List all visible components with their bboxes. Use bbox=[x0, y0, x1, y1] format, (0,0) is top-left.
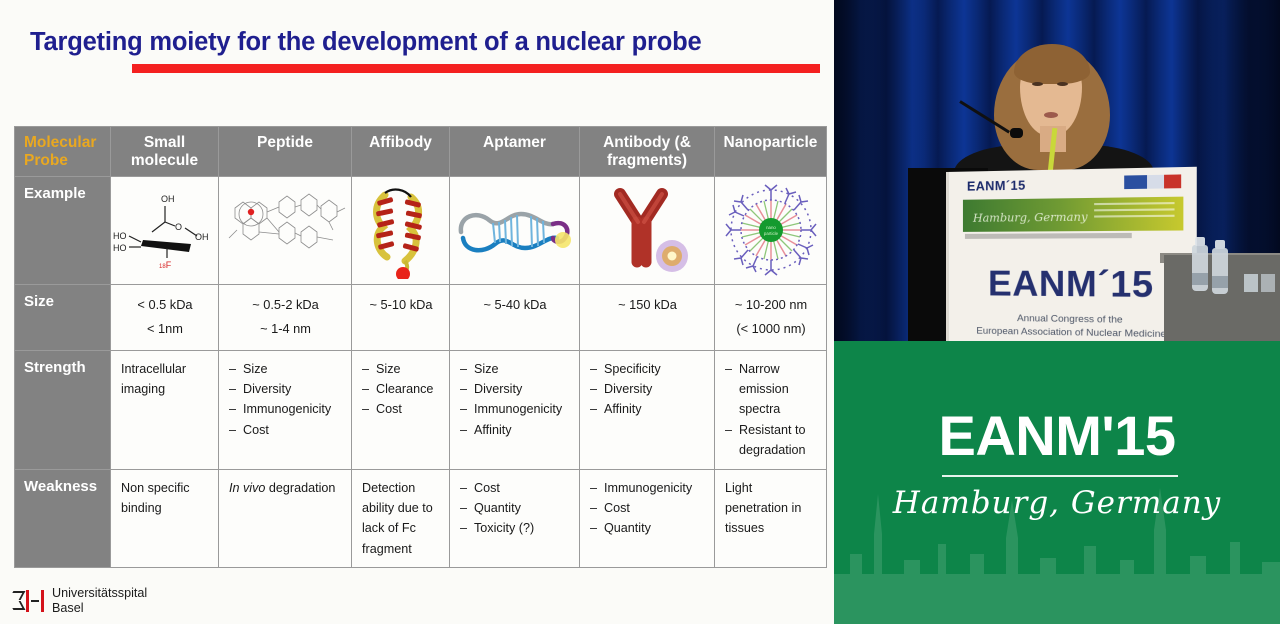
table-row-weakness: Weakness Non specific binding In vivo de… bbox=[15, 469, 827, 568]
table-corner-header: Molecular Probe bbox=[15, 127, 111, 177]
speaker-video-pane[interactable]: EANM´15 Hamburg, Germany EANM´15 Annual … bbox=[834, 0, 1280, 341]
list-item: Immunogenicity bbox=[229, 399, 342, 419]
column-header-antibody: Antibody (& fragments) bbox=[580, 127, 715, 177]
aptamer-dna-helix-icon bbox=[450, 177, 579, 283]
unibas-logo-line2: Basel bbox=[52, 601, 147, 616]
peptide-chemical-structure-icon bbox=[219, 177, 351, 283]
podium-sign-flag-icon bbox=[1124, 174, 1181, 189]
row-header-weakness: Weakness bbox=[15, 469, 111, 568]
unibas-logo-text: Universitätsspital Basel bbox=[52, 586, 147, 617]
bullet-list: Immunogenicity Cost Quantity bbox=[590, 478, 705, 539]
svg-text:HO: HO bbox=[113, 231, 127, 241]
list-item: Size bbox=[460, 359, 570, 379]
table-header-row: Molecular Probe Small molecule Peptide A… bbox=[15, 127, 827, 177]
universitaetsspital-basel-logo: Universitätsspital Basel bbox=[10, 586, 147, 617]
size-cell-small-molecule: < 0.5 kDa < 1nm bbox=[111, 285, 219, 351]
column-header-nanoparticle: Nanoparticle bbox=[715, 127, 827, 177]
speaker-eye-right bbox=[1057, 82, 1068, 86]
brand-title: EANM'15 bbox=[834, 403, 1280, 468]
bullet-list: Narrow emission spectra Resistant to deg… bbox=[725, 359, 817, 461]
drinking-glass-icon bbox=[1261, 274, 1275, 292]
slide-title: Targeting moiety for the development of … bbox=[30, 28, 820, 57]
svg-text:nano: nano bbox=[766, 225, 776, 230]
example-cell-aptamer bbox=[450, 177, 580, 285]
list-item: Narrow emission spectra bbox=[725, 359, 817, 420]
weakness-cell-antibody: Immunogenicity Cost Quantity bbox=[580, 469, 715, 568]
example-cell-peptide bbox=[219, 177, 352, 285]
list-item: Immunogenicity bbox=[590, 478, 705, 498]
unibas-logo-line1: Universitätsspital bbox=[52, 586, 147, 601]
svg-text:HO: HO bbox=[113, 243, 127, 253]
size-line: ~ 1-4 nm bbox=[229, 317, 342, 341]
unibas-logo-mark-icon bbox=[10, 589, 46, 613]
svg-text:particle: particle bbox=[763, 231, 778, 236]
list-item: Size bbox=[362, 359, 440, 379]
list-item: Affinity bbox=[590, 399, 705, 419]
example-cell-nanoparticle: nano particle bbox=[715, 177, 827, 285]
list-item: Diversity bbox=[590, 379, 705, 399]
affibody-helix-ribbon-icon bbox=[352, 177, 449, 283]
size-cell-antibody: ~ 150 kDa bbox=[580, 285, 715, 351]
bullet-list: Size Clearance Cost bbox=[362, 359, 440, 420]
strength-cell-small-molecule: Intracellular imaging bbox=[111, 350, 219, 469]
weakness-text: degradation bbox=[265, 481, 335, 495]
size-line: (< 1000 nm) bbox=[725, 317, 817, 341]
weakness-cell-small-molecule: Non specific binding bbox=[111, 469, 219, 568]
svg-text:18F: 18F bbox=[159, 260, 172, 270]
brand-divider-rule bbox=[942, 475, 1178, 477]
strength-cell-antibody: Specificity Diversity Affinity bbox=[580, 350, 715, 469]
speaker-mouth bbox=[1044, 112, 1058, 118]
speaker-eye-left bbox=[1032, 82, 1043, 86]
list-item: Immunogenicity bbox=[460, 399, 570, 419]
list-item: Quantity bbox=[590, 518, 705, 538]
example-cell-small-molecule: OH O OH HO HO bbox=[111, 177, 219, 285]
column-header-peptide: Peptide bbox=[219, 127, 352, 177]
brand-subtitle: Hamburg, Germany bbox=[834, 485, 1280, 521]
strength-cell-peptide: Size Diversity Immunogenicity Cost bbox=[219, 350, 352, 469]
water-bottle-icon bbox=[1212, 248, 1228, 294]
screen: Targeting moiety for the development of … bbox=[0, 0, 1280, 624]
list-item: Clearance bbox=[362, 379, 440, 399]
bullet-list: Size Diversity Immunogenicity Cost bbox=[229, 359, 342, 441]
size-cell-peptide: ~ 0.5-2 kDa ~ 1-4 nm bbox=[219, 285, 352, 351]
list-item: Affinity bbox=[460, 420, 570, 440]
size-line: < 0.5 kDa bbox=[121, 293, 209, 317]
drinking-glass-icon bbox=[1244, 274, 1258, 292]
size-line: ~ 0.5-2 kDa bbox=[229, 293, 342, 317]
size-cell-affibody: ~ 5-10 kDa bbox=[352, 285, 450, 351]
example-cell-antibody bbox=[580, 177, 715, 285]
strength-cell-nanoparticle: Narrow emission spectra Resistant to deg… bbox=[715, 350, 827, 469]
svg-text:OH: OH bbox=[195, 232, 209, 242]
water-bottle-icon bbox=[1192, 245, 1208, 291]
list-item: Diversity bbox=[229, 379, 342, 399]
weakness-cell-aptamer: Cost Quantity Toxicity (?) bbox=[450, 469, 580, 568]
nanoparticle-dendrimer-icon: nano particle bbox=[715, 177, 826, 283]
podium-sign-banner-lines bbox=[1094, 202, 1174, 222]
microphone-icon bbox=[1010, 128, 1023, 138]
weakness-cell-affibody: Detection ability due to lack of Fc frag… bbox=[352, 469, 450, 568]
list-item: Specificity bbox=[590, 359, 705, 379]
podium-sign-smudge bbox=[965, 233, 1132, 239]
bullet-list: Cost Quantity Toxicity (?) bbox=[460, 478, 570, 539]
list-item: Quantity bbox=[460, 498, 570, 518]
eanm-brand-panel: EANM'15 Hamburg, Germany bbox=[834, 341, 1280, 624]
list-item: Cost bbox=[362, 399, 440, 419]
row-header-size: Size bbox=[15, 285, 111, 351]
list-item: Cost bbox=[460, 478, 570, 498]
size-line: ~ 10-200 nm bbox=[725, 293, 817, 317]
column-header-aptamer: Aptamer bbox=[450, 127, 580, 177]
fdg-glucose-structure-icon: OH O OH HO HO bbox=[111, 177, 218, 283]
list-item: Resistant to degradation bbox=[725, 420, 817, 461]
list-item: Cost bbox=[229, 420, 342, 440]
podium-sign-big-logo: EANM´15 bbox=[949, 264, 1197, 307]
size-line: ~ 5-10 kDa bbox=[362, 293, 440, 317]
weakness-cell-nanoparticle: Light penetration in tissues bbox=[715, 469, 827, 568]
bullet-list: Size Diversity Immunogenicity Affinity bbox=[460, 359, 570, 441]
size-line: ~ 5-40 kDa bbox=[460, 293, 570, 317]
podium-sign-subtitle-line2: European Association of Nuclear Medicine bbox=[949, 325, 1197, 341]
row-header-strength: Strength bbox=[15, 350, 111, 469]
weakness-cell-peptide: In vivo degradation bbox=[219, 469, 352, 568]
antibody-y-shape-icon bbox=[580, 177, 714, 283]
bullet-list: Specificity Diversity Affinity bbox=[590, 359, 705, 420]
table-row-strength: Strength Intracellular imaging Size Dive… bbox=[15, 350, 827, 469]
molecular-probe-comparison-table: Molecular Probe Small molecule Peptide A… bbox=[14, 126, 827, 568]
list-item: Size bbox=[229, 359, 342, 379]
list-item: Cost bbox=[590, 498, 705, 518]
list-item: Diversity bbox=[460, 379, 570, 399]
svg-text:OH: OH bbox=[161, 194, 175, 204]
row-header-example: Example bbox=[15, 177, 111, 285]
presentation-slide: Targeting moiety for the development of … bbox=[0, 0, 834, 624]
size-cell-aptamer: ~ 5-40 kDa bbox=[450, 285, 580, 351]
strength-cell-affibody: Size Clearance Cost bbox=[352, 350, 450, 469]
size-cell-nanoparticle: ~ 10-200 nm (< 1000 nm) bbox=[715, 285, 827, 351]
weakness-italic-prefix: In vivo bbox=[229, 481, 265, 495]
table-row-example: Example OH O OH bbox=[15, 177, 827, 285]
podium-sign-banner-script: Hamburg, Germany bbox=[973, 210, 1088, 224]
size-line: ~ 150 kDa bbox=[590, 293, 705, 317]
podium-sign-small-logo: EANM´15 bbox=[967, 178, 1026, 193]
strength-cell-aptamer: Size Diversity Immunogenicity Affinity bbox=[450, 350, 580, 469]
column-header-small-molecule: Small molecule bbox=[111, 127, 219, 177]
size-line: < 1nm bbox=[121, 317, 209, 341]
list-item: Toxicity (?) bbox=[460, 518, 570, 538]
table-row-size: Size < 0.5 kDa < 1nm ~ 0.5-2 kDa ~ 1-4 n… bbox=[15, 285, 827, 351]
speaker-hair-fringe bbox=[1014, 44, 1090, 84]
column-header-affibody: Affibody bbox=[352, 127, 450, 177]
example-cell-affibody bbox=[352, 177, 450, 285]
svg-text:O: O bbox=[175, 222, 182, 232]
title-underline-rule bbox=[132, 64, 820, 73]
podium-sign-banner: Hamburg, Germany bbox=[963, 197, 1183, 232]
